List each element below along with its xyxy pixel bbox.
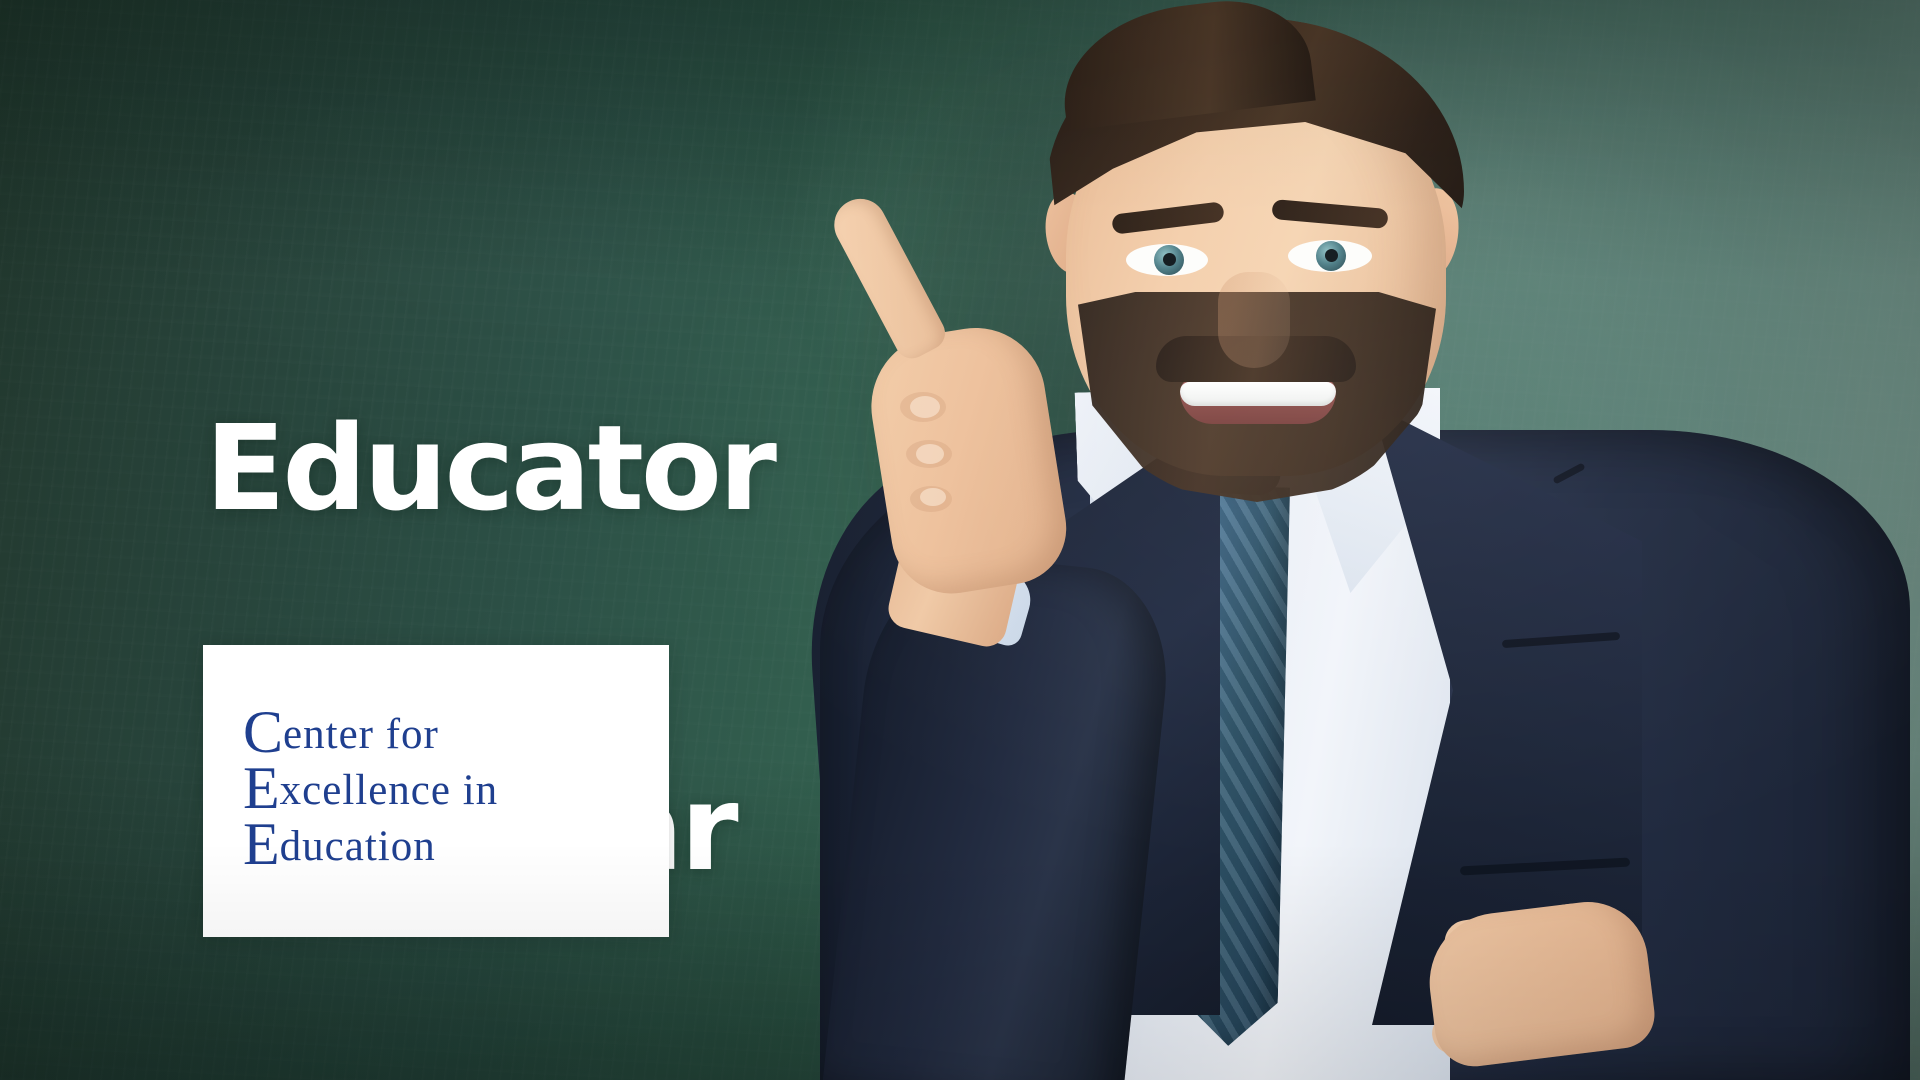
mouth <box>1180 378 1336 424</box>
fingernail-1 <box>910 396 940 418</box>
nose <box>1218 272 1290 368</box>
logo-line-1: Center for <box>243 707 669 763</box>
logo-line-1-text: enter for <box>283 711 439 758</box>
fingernail-3 <box>920 488 946 506</box>
logo-line-2: Excellence in <box>243 763 669 819</box>
logo-line-3: Education <box>243 819 669 875</box>
presenter-photo <box>760 0 1920 1080</box>
logo-dropcap-e2: E <box>243 811 280 877</box>
webinar-title-card: Educator Webinar Center for Excellence i… <box>0 0 1920 1080</box>
logo-line-2-text: xcellence in <box>280 767 499 814</box>
organization-logo: Center for Excellence in Education <box>203 645 669 937</box>
pupil-right <box>1325 249 1338 262</box>
fingernail-2 <box>916 444 944 464</box>
logo-line-3-text: ducation <box>280 823 436 870</box>
pupil-left <box>1163 253 1176 266</box>
headline-line-1: Educator <box>205 410 774 527</box>
teeth <box>1180 382 1336 406</box>
pointing-index-finger <box>825 190 951 365</box>
page-title: Educator Webinar <box>205 176 774 1080</box>
